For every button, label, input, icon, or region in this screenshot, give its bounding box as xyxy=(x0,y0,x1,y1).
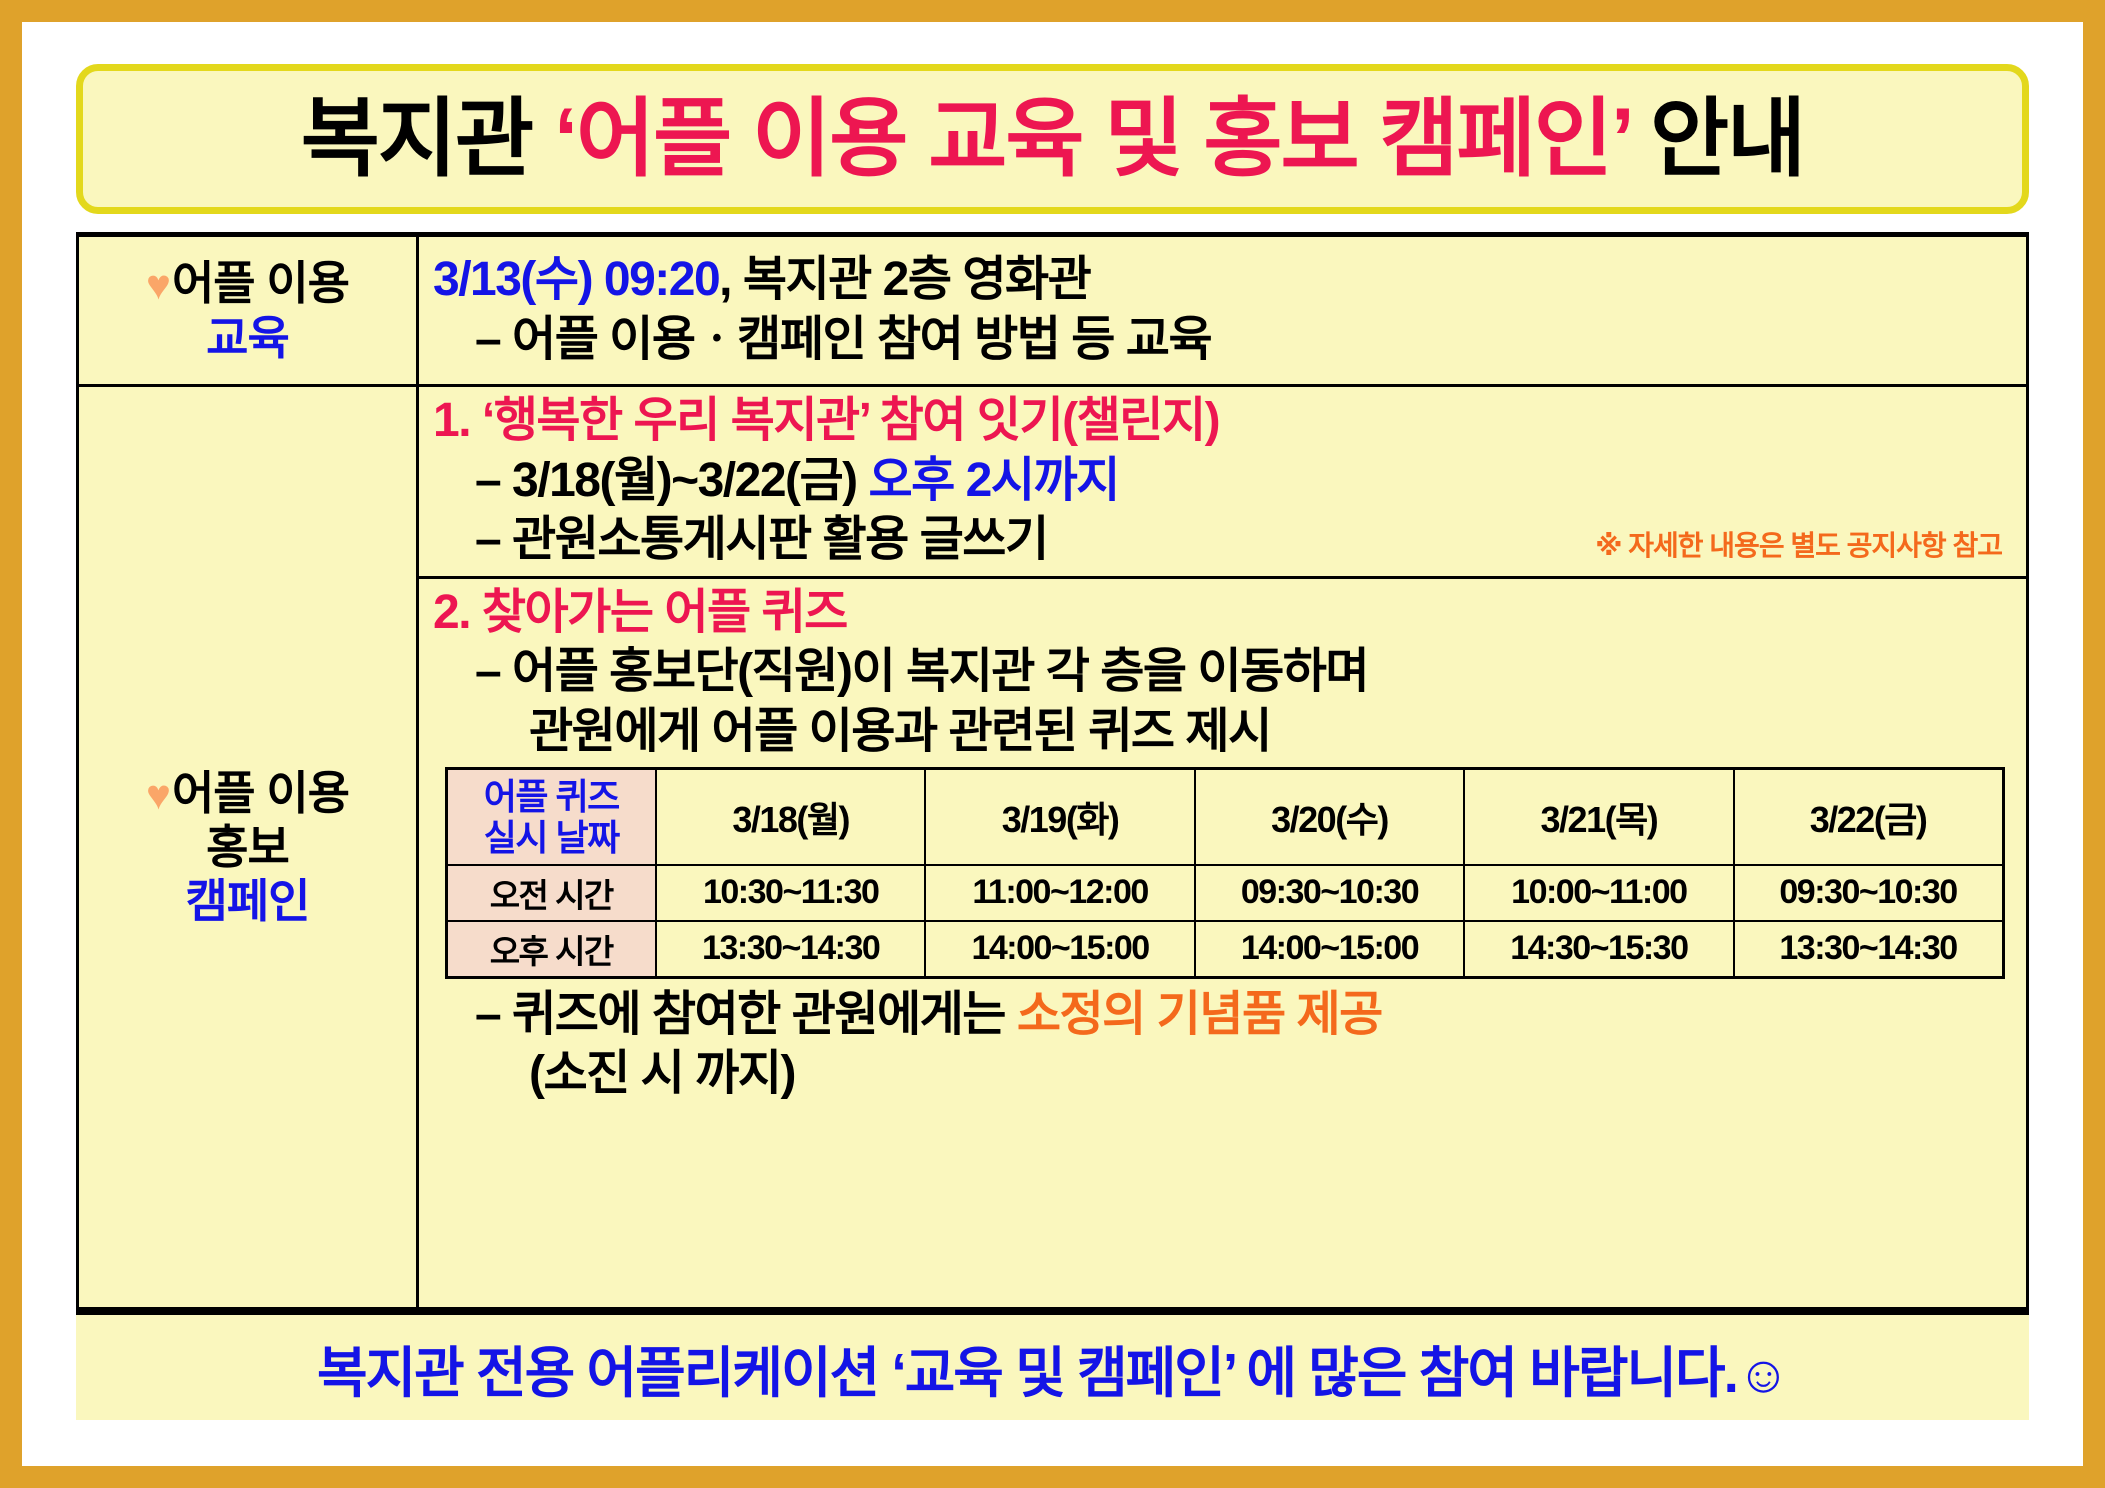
promotion-label-line-3: 캠페인 xyxy=(186,874,310,928)
page-title-banner: 복지관 ‘어플 이용 교육 및 홍보 캠페인’ 안내 xyxy=(76,64,2029,214)
quiz-afternoon-cell: 14:30~15:30 xyxy=(1464,921,1733,978)
quiz-morning-cell: 10:00~11:00 xyxy=(1464,865,1733,921)
item2-bullet-1-line-1: – 어플 홍보단(직원)이 복지관 각 층을 이동하며 xyxy=(433,642,2016,702)
quiz-table-corner-header: 어플 퀴즈실시 날짜 xyxy=(446,769,656,865)
promotion-label-line-2: 홍보 xyxy=(206,820,289,874)
education-label-line-2: 교육 xyxy=(206,311,289,365)
quiz-afternoon-cell: 14:00~15:00 xyxy=(1195,921,1464,978)
item1-bullet1-deadline: 오후 2시까지 xyxy=(869,454,1119,507)
row-body-promotion: 1. ‘행복한 우리 복지관’ 참여 잇기(챌린지) – 3/18(월)~3/2… xyxy=(419,387,2026,1307)
footer-text: 복지관 전용 어플리케이션 ‘교육 및 캠페인’ 에 많은 참여 바랍니다. xyxy=(317,1342,1737,1404)
quiz-morning-cell: 09:30~10:30 xyxy=(1734,865,2003,921)
row-body-education: 3/13(수) 09:20, 복지관 2층 영화관 – 어플 이용ㆍ캠페인 참여… xyxy=(419,237,2026,384)
page-title-suffix: 안내 xyxy=(1650,91,1804,187)
quiz-date-cell: 3/19(화) xyxy=(925,769,1194,865)
quiz-morning-cell: 09:30~10:30 xyxy=(1195,865,1464,921)
promotion-item-1: 1. ‘행복한 우리 복지관’ 참여 잇기(챌린지) – 3/18(월)~3/2… xyxy=(419,387,2026,579)
promotion-item-2: 2. 찾아가는 어플 퀴즈 – 어플 홍보단(직원)이 복지관 각 층을 이동하… xyxy=(419,579,2026,1307)
table-row: 어플 퀴즈실시 날짜 3/18(월) 3/19(화) 3/20(수) 3/21(… xyxy=(446,769,2003,865)
item2-bullet-2: – 퀴즈에 참여한 관원에게는 소정의 기념품 제공 xyxy=(433,985,2016,1045)
quiz-afternoon-cell: 13:30~14:30 xyxy=(1734,921,2003,978)
education-detail-line: – 어플 이용ㆍ캠페인 참여 방법 등 교육 xyxy=(433,310,2016,370)
quiz-afternoon-cell: 13:30~14:30 xyxy=(656,921,925,978)
item2-bullet2-gift: 소정의 기념품 제공 xyxy=(1017,988,1382,1041)
item2-heading: 2. 찾아가는 어플 퀴즈 xyxy=(433,583,2016,643)
item1-bullet-1: – 3/18(월)~3/22(금) 오후 2시까지 xyxy=(433,451,2016,511)
item1-note: ※ 자세한 내용은 별도 공지사항 참고 xyxy=(1595,524,2016,564)
row-label-education: ♥어플 이용 교육 xyxy=(79,237,419,384)
heart-icon: ♥ xyxy=(146,771,170,818)
table-row-education: ♥어플 이용 교육 3/13(수) 09:20, 복지관 2층 영화관 – 어플… xyxy=(79,237,2026,387)
quiz-schedule-wrapper: 어플 퀴즈실시 날짜 3/18(월) 3/19(화) 3/20(수) 3/21(… xyxy=(433,761,2016,985)
item2-bullet2-prefix: – 퀴즈에 참여한 관원에게는 xyxy=(475,988,1005,1041)
quiz-morning-label: 오전 시간 xyxy=(446,865,656,921)
footer-banner: 복지관 전용 어플리케이션 ‘교육 및 캠페인’ 에 많은 참여 바랍니다.☺ xyxy=(76,1310,2029,1420)
education-location: , 복지관 2층 영화관 xyxy=(719,253,1090,306)
content-table: ♥어플 이용 교육 3/13(수) 09:20, 복지관 2층 영화관 – 어플… xyxy=(76,232,2029,1310)
table-row-promotion: ♥어플 이용 홍보 캠페인 1. ‘행복한 우리 복지관’ 참여 잇기(챌린지)… xyxy=(79,387,2026,1307)
page-title-highlight: ‘어플 이용 교육 및 홍보 캠페인’ xyxy=(554,91,1630,187)
education-datetime: 3/13(수) 09:20 xyxy=(433,253,719,306)
promotion-label-line-1: ♥어플 이용 xyxy=(146,766,349,820)
poster-sheet: 복지관 ‘어플 이용 교육 및 홍보 캠페인’ 안내 ♥어플 이용 교육 3/1… xyxy=(44,44,2061,1444)
table-row: 오후 시간 13:30~14:30 14:00~15:00 14:00~15:0… xyxy=(446,921,2003,978)
quiz-afternoon-cell: 14:00~15:00 xyxy=(925,921,1194,978)
row-label-promotion: ♥어플 이용 홍보 캠페인 xyxy=(79,387,419,1307)
item1-bullet-2-row: – 관원소통게시판 활용 글쓰기 ※ 자세한 내용은 별도 공지사항 참고 xyxy=(433,510,2016,570)
item2-bullet-1-line-2: 관원에게 어플 이용과 관련된 퀴즈 제시 xyxy=(433,702,2016,762)
item1-bullet-2: – 관원소통게시판 활용 글쓰기 xyxy=(433,510,1048,570)
quiz-afternoon-label: 오후 시간 xyxy=(446,921,656,978)
page-title: 복지관 ‘어플 이용 교육 및 홍보 캠페인’ 안내 xyxy=(301,96,1804,182)
smiley-icon: ☺ xyxy=(1737,1346,1788,1404)
education-label-line-1: ♥어플 이용 xyxy=(146,256,349,310)
table-row: 오전 시간 10:30~11:30 11:00~12:00 09:30~10:3… xyxy=(446,865,2003,921)
footer-message: 복지관 전용 어플리케이션 ‘교육 및 캠페인’ 에 많은 참여 바랍니다.☺ xyxy=(317,1328,1788,1408)
item1-bullet1-dates: – 3/18(월)~3/22(금) xyxy=(475,454,857,507)
quiz-morning-cell: 11:00~12:00 xyxy=(925,865,1194,921)
heart-icon: ♥ xyxy=(146,261,170,308)
quiz-date-cell: 3/20(수) xyxy=(1195,769,1464,865)
poster-frame: 복지관 ‘어플 이용 교육 및 홍보 캠페인’ 안내 ♥어플 이용 교육 3/1… xyxy=(0,0,2105,1488)
item1-heading: 1. ‘행복한 우리 복지관’ 참여 잇기(챌린지) xyxy=(433,391,2016,451)
quiz-schedule-table: 어플 퀴즈실시 날짜 3/18(월) 3/19(화) 3/20(수) 3/21(… xyxy=(445,767,2005,979)
item2-bullet-3: (소진 시 까지) xyxy=(433,1044,2016,1104)
quiz-morning-cell: 10:30~11:30 xyxy=(656,865,925,921)
quiz-date-cell: 3/18(월) xyxy=(656,769,925,865)
education-datetime-line: 3/13(수) 09:20, 복지관 2층 영화관 xyxy=(433,250,2016,310)
quiz-date-cell: 3/22(금) xyxy=(1734,769,2003,865)
quiz-date-cell: 3/21(목) xyxy=(1464,769,1733,865)
page-title-prefix: 복지관 xyxy=(301,91,532,187)
